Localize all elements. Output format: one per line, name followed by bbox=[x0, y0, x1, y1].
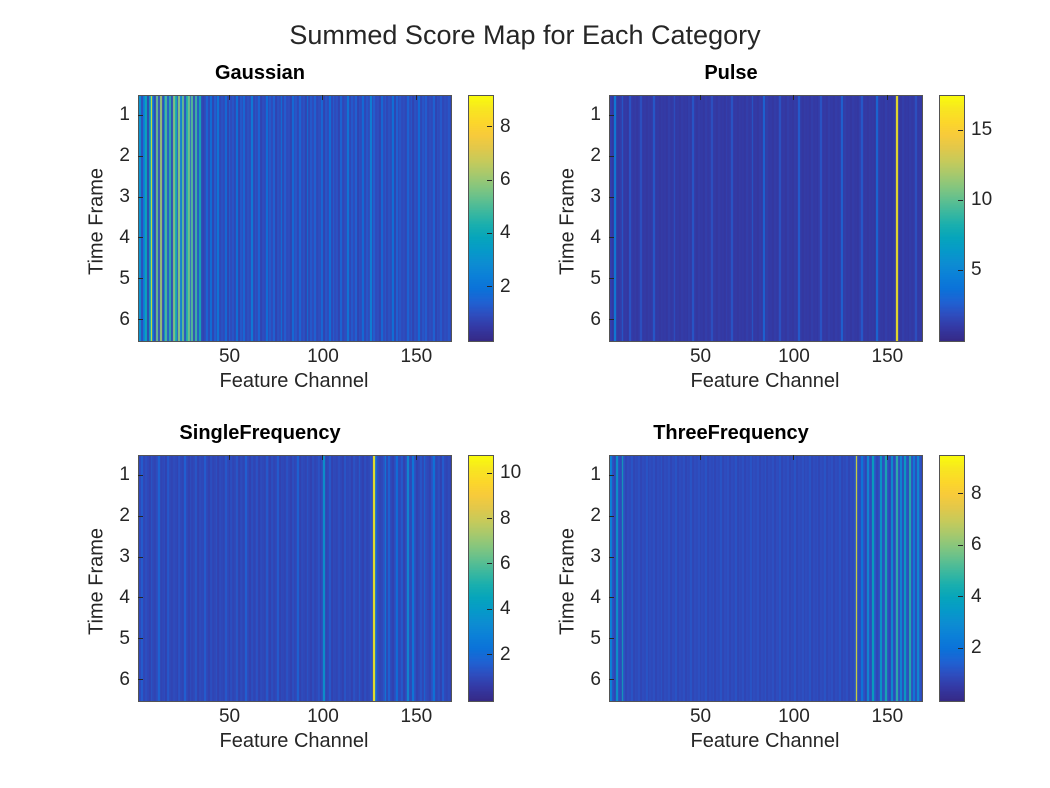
heatmap-axes-threefrequency[interactable] bbox=[609, 455, 923, 702]
x-axis-label-singlefrequency: Feature Channel bbox=[138, 730, 450, 753]
y-tick-label: 2 bbox=[561, 145, 601, 167]
y-tick-label: 1 bbox=[561, 464, 601, 486]
y-tick-mark bbox=[138, 197, 143, 198]
matlab-figure: Summed Score Map for Each Category Gauss… bbox=[0, 0, 1050, 788]
x-tick-mark bbox=[700, 455, 701, 460]
heatmap-axes-pulse[interactable] bbox=[609, 95, 923, 342]
y-tick-label: 5 bbox=[90, 268, 130, 290]
y-tick-label: 6 bbox=[90, 669, 130, 691]
colorbar-tick-mark bbox=[487, 609, 492, 610]
colorbar-tick-mark bbox=[487, 180, 492, 181]
y-tick-label: 2 bbox=[90, 145, 130, 167]
x-tick-mark bbox=[229, 95, 230, 100]
colorbar-tick-label: 10 bbox=[500, 462, 521, 484]
y-tick-label: 4 bbox=[561, 227, 601, 249]
y-tick-mark bbox=[138, 557, 143, 558]
colorbar-tick-label: 15 bbox=[971, 119, 992, 141]
colorbar-tick-mark bbox=[487, 286, 492, 287]
x-axis-label-pulse: Feature Channel bbox=[609, 370, 921, 393]
subplot-singlefrequency: SingleFrequency Time Frame Feature Chann… bbox=[70, 422, 500, 752]
y-tick-mark bbox=[609, 156, 614, 157]
x-tick-label: 50 bbox=[219, 706, 240, 728]
y-tick-label: 3 bbox=[561, 186, 601, 208]
y-tick-mark bbox=[138, 638, 143, 639]
x-tick-label: 150 bbox=[872, 346, 904, 368]
x-tick-label: 150 bbox=[401, 346, 433, 368]
colorbar-tick-label: 6 bbox=[500, 169, 511, 191]
x-tick-mark bbox=[322, 455, 323, 460]
x-tick-mark bbox=[700, 95, 701, 100]
y-tick-label: 4 bbox=[90, 587, 130, 609]
colorbar-tick-label: 6 bbox=[500, 553, 511, 575]
colorbar-singlefrequency[interactable] bbox=[468, 455, 494, 702]
colorbar-tick-label: 10 bbox=[971, 189, 992, 211]
y-tick-label: 4 bbox=[561, 587, 601, 609]
colorbar-tick-mark bbox=[958, 493, 963, 494]
x-tick-label: 50 bbox=[219, 346, 240, 368]
x-tick-label: 50 bbox=[690, 706, 711, 728]
subplot-gaussian: Gaussian Time Frame Feature Channel 1234… bbox=[70, 62, 500, 392]
subplot-threefrequency: ThreeFrequency Time Frame Feature Channe… bbox=[541, 422, 981, 752]
x-tick-label: 150 bbox=[872, 706, 904, 728]
colorbar-tick-mark bbox=[958, 270, 963, 271]
y-tick-label: 6 bbox=[90, 309, 130, 331]
x-tick-label: 50 bbox=[690, 346, 711, 368]
heatmap-canvas-pulse bbox=[610, 96, 922, 341]
colorbar-pulse[interactable] bbox=[939, 95, 965, 342]
colorbar-tick-label: 2 bbox=[971, 637, 982, 659]
colorbar-tick-label: 2 bbox=[500, 644, 511, 666]
y-tick-mark bbox=[609, 115, 614, 116]
colorbar-canvas-singlefrequency bbox=[469, 456, 493, 701]
subplot-title-threefrequency: ThreeFrequency bbox=[541, 422, 921, 445]
y-tick-mark bbox=[138, 115, 143, 116]
y-tick-mark bbox=[609, 319, 614, 320]
colorbar-tick-label: 8 bbox=[500, 508, 511, 530]
subplot-pulse: Pulse Time Frame Feature Channel 123456 … bbox=[541, 62, 981, 392]
colorbar-threefrequency[interactable] bbox=[939, 455, 965, 702]
x-tick-mark bbox=[887, 455, 888, 460]
y-tick-mark bbox=[609, 597, 614, 598]
y-tick-label: 3 bbox=[90, 546, 130, 568]
y-tick-label: 5 bbox=[90, 628, 130, 650]
x-tick-mark bbox=[793, 455, 794, 460]
y-tick-label: 3 bbox=[561, 546, 601, 568]
colorbar-tick-label: 2 bbox=[500, 276, 511, 298]
heatmap-axes-singlefrequency[interactable] bbox=[138, 455, 452, 702]
x-tick-label: 100 bbox=[307, 346, 339, 368]
colorbar-tick-mark bbox=[958, 596, 963, 597]
y-tick-label: 2 bbox=[561, 505, 601, 527]
colorbar-tick-mark bbox=[958, 130, 963, 131]
y-tick-mark bbox=[138, 156, 143, 157]
colorbar-tick-label: 4 bbox=[500, 222, 511, 244]
colorbar-gaussian[interactable] bbox=[468, 95, 494, 342]
y-tick-label: 5 bbox=[561, 628, 601, 650]
y-tick-label: 1 bbox=[90, 104, 130, 126]
colorbar-tick-mark bbox=[487, 563, 492, 564]
x-tick-mark bbox=[416, 95, 417, 100]
colorbar-tick-mark bbox=[487, 518, 492, 519]
colorbar-tick-mark bbox=[487, 126, 492, 127]
y-tick-label: 3 bbox=[90, 186, 130, 208]
colorbar-tick-label: 6 bbox=[971, 534, 982, 556]
colorbar-canvas-pulse bbox=[940, 96, 964, 341]
heatmap-axes-gaussian[interactable] bbox=[138, 95, 452, 342]
colorbar-tick-label: 5 bbox=[971, 259, 982, 281]
figure-title: Summed Score Map for Each Category bbox=[0, 20, 1050, 51]
x-tick-mark bbox=[229, 455, 230, 460]
y-tick-mark bbox=[138, 319, 143, 320]
y-tick-label: 2 bbox=[90, 505, 130, 527]
y-tick-mark bbox=[138, 679, 143, 680]
colorbar-tick-mark bbox=[487, 233, 492, 234]
y-tick-label: 6 bbox=[561, 669, 601, 691]
y-tick-mark bbox=[609, 557, 614, 558]
colorbar-canvas-gaussian bbox=[469, 96, 493, 341]
y-tick-mark bbox=[138, 597, 143, 598]
y-tick-label: 1 bbox=[561, 104, 601, 126]
x-tick-label: 150 bbox=[401, 706, 433, 728]
y-tick-mark bbox=[609, 638, 614, 639]
y-tick-mark bbox=[609, 278, 614, 279]
y-tick-mark bbox=[609, 197, 614, 198]
y-tick-mark bbox=[138, 278, 143, 279]
x-tick-mark bbox=[416, 455, 417, 460]
x-tick-mark bbox=[322, 95, 323, 100]
subplot-title-singlefrequency: SingleFrequency bbox=[70, 422, 450, 445]
y-tick-mark bbox=[609, 475, 614, 476]
colorbar-tick-label: 4 bbox=[500, 598, 511, 620]
x-tick-label: 100 bbox=[778, 706, 810, 728]
y-tick-mark bbox=[609, 679, 614, 680]
colorbar-tick-label: 8 bbox=[500, 116, 511, 138]
subplot-title-pulse: Pulse bbox=[541, 62, 921, 85]
y-tick-mark bbox=[138, 237, 143, 238]
x-tick-label: 100 bbox=[778, 346, 810, 368]
x-axis-label-gaussian: Feature Channel bbox=[138, 370, 450, 393]
x-tick-mark bbox=[887, 95, 888, 100]
x-tick-label: 100 bbox=[307, 706, 339, 728]
heatmap-canvas-singlefrequency bbox=[139, 456, 451, 701]
x-axis-label-threefrequency: Feature Channel bbox=[609, 730, 921, 753]
y-tick-label: 4 bbox=[90, 227, 130, 249]
colorbar-tick-label: 8 bbox=[971, 483, 982, 505]
colorbar-tick-mark bbox=[487, 654, 492, 655]
x-tick-mark bbox=[793, 95, 794, 100]
colorbar-tick-label: 4 bbox=[971, 586, 982, 608]
y-tick-label: 6 bbox=[561, 309, 601, 331]
heatmap-canvas-threefrequency bbox=[610, 456, 922, 701]
colorbar-tick-mark bbox=[958, 648, 963, 649]
colorbar-tick-mark bbox=[487, 473, 492, 474]
y-tick-label: 1 bbox=[90, 464, 130, 486]
subplot-title-gaussian: Gaussian bbox=[70, 62, 450, 85]
y-tick-label: 5 bbox=[561, 268, 601, 290]
colorbar-tick-mark bbox=[958, 545, 963, 546]
y-tick-mark bbox=[609, 237, 614, 238]
y-tick-mark bbox=[138, 516, 143, 517]
y-tick-mark bbox=[138, 475, 143, 476]
colorbar-tick-mark bbox=[958, 200, 963, 201]
y-tick-mark bbox=[609, 516, 614, 517]
heatmap-canvas-gaussian bbox=[139, 96, 451, 341]
